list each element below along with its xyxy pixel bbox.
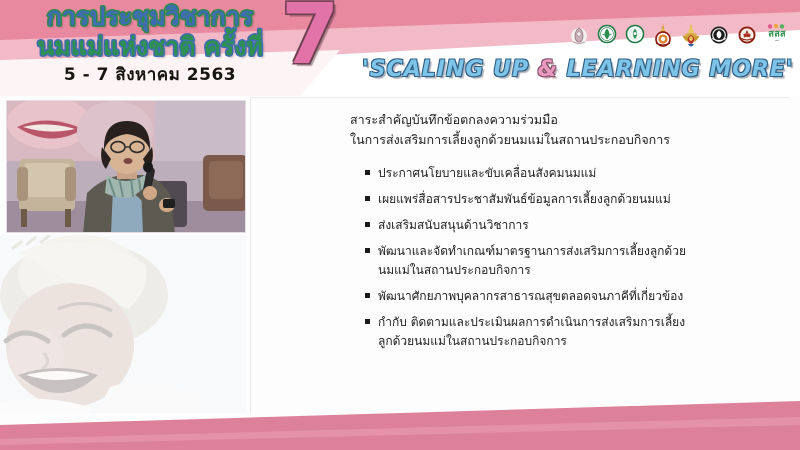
list-item-label: กำกับ ติดตามและประเมินผลการดำเนินการส่งเ… xyxy=(378,315,685,348)
conference-date: 5 - 7 สิงหาคม 2563 xyxy=(0,64,300,86)
list-item-label: เผยแพร่สื่อสารประชาสัมพันธ์ข้อมูลการเลี้… xyxy=(378,192,671,206)
square-bullet-icon xyxy=(365,248,370,253)
list-item-label: ส่งเสริมสนับสนุนด้านวิชาการ xyxy=(378,218,529,232)
list-item-label: ประกาศนโยบายและขับเคลื่อนสังคมนมแม่ xyxy=(378,166,596,180)
content-top-divider xyxy=(250,97,790,98)
smiling-child-photo xyxy=(0,235,246,413)
list-item: กำกับ ติดตามและประเมินผลการดำเนินการส่งเ… xyxy=(365,313,695,351)
list-item: พัฒนาศักยภาพบุคลากรสาธารณสุขตลอดจนภาคีที… xyxy=(365,287,695,306)
edition-number: 7 xyxy=(281,0,339,76)
unicef-thailand-logo xyxy=(706,23,731,55)
content-lead-line-1: สาระสำคัญบันทึกข้อตกลงความร่วมมือ xyxy=(350,110,792,130)
list-item: เผยแพร่สื่อสารประชาสัมพันธ์ข้อมูลการเลี้… xyxy=(365,190,695,209)
content-lead: สาระสำคัญบันทึกข้อตกลงความร่วมมือ ในการส… xyxy=(350,110,792,150)
logo-caption: สสส xyxy=(762,40,792,43)
footer-pink-wedge xyxy=(0,395,800,450)
svg-text:สสส: สสส xyxy=(768,29,786,40)
ministry-of-public-health-logo xyxy=(622,23,647,55)
list-item: ส่งเสริมสนับสนุนด้านวิชาการ xyxy=(365,216,695,235)
royal-garuda-emblem-logo xyxy=(678,23,703,55)
square-bullet-icon xyxy=(365,319,370,324)
presentation-slide: การประชุมวิชาการ นมแม่แห่งชาติ ครั้งที่ … xyxy=(0,0,800,450)
thai-health-promotion-foundation-logo: สสส สสส xyxy=(762,23,792,55)
speaker-video-still xyxy=(6,100,246,233)
tagline-ampersand: & xyxy=(538,57,558,82)
department-of-health-emblem-logo xyxy=(650,23,675,55)
conference-title-line1: การประชุมวิชาการ xyxy=(0,2,300,32)
content-lead-line-2: ในการส่งเสริมการเลี้ยงลูกด้วยนมแม่ในสถาน… xyxy=(350,130,792,150)
slide-body-content: สาระสำคัญบันทึกข้อตกลงความร่วมมือ ในการส… xyxy=(262,100,792,400)
list-item: ประกาศนโยบายและขับเคลื่อนสังคมนมแม่ xyxy=(365,164,695,183)
square-bullet-icon xyxy=(365,196,370,201)
list-item-label: พัฒนาและจัดทำเกณฑ์มาตรฐานการส่งเสริมการเ… xyxy=(378,244,686,277)
conference-title-block: การประชุมวิชาการ นมแม่แห่งชาติ ครั้งที่ … xyxy=(0,2,300,86)
national-health-security-office-logo xyxy=(734,23,759,55)
square-bullet-icon xyxy=(365,170,370,175)
sponsor-logo-strip: สสส สสส xyxy=(566,22,796,56)
content-bullet-list: ประกาศนโยบายและขับเคลื่อนสังคมนมแม่ เผยแ… xyxy=(365,164,695,351)
content-column-divider xyxy=(250,97,251,413)
thai-breastfeeding-centre-foundation-logo xyxy=(594,23,619,55)
conference-title-line2: นมแม่แห่งชาติ ครั้งที่ xyxy=(0,32,300,62)
list-item: พัฒนาและจัดทำเกณฑ์มาตรฐานการส่งเสริมการเ… xyxy=(365,242,695,280)
square-bullet-icon xyxy=(365,293,370,298)
list-item-label: พัฒนาศักยภาพบุคลากรสาธารณสุขตลอดจนภาคีที… xyxy=(378,289,683,303)
tagline-prefix: 'SCALING UP xyxy=(362,57,538,82)
conference-tagline: 'SCALING UP & LEARNING MORE' xyxy=(362,57,794,82)
tagline-suffix: LEARNING MORE' xyxy=(558,57,794,82)
royal-patronage-seal-logo xyxy=(566,23,591,55)
slide-header: การประชุมวิชาการ นมแม่แห่งชาติ ครั้งที่ … xyxy=(0,0,800,96)
square-bullet-icon xyxy=(365,222,370,227)
